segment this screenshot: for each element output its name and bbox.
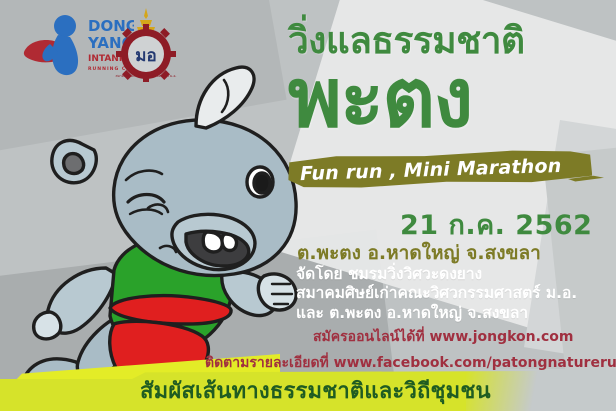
organizer-line-2: สมาคมศิษย์เก่าคณะวิศวกรรมศาสตร์ ม.อ.	[296, 284, 577, 303]
rhino-eye-pupil	[254, 173, 270, 193]
facebook-link-line[interactable]: ติดตามรายละเอียดที่ www.facebook.com/pat…	[205, 352, 616, 374]
rhino-left-fist	[34, 312, 61, 339]
rhino-ear-inner	[64, 154, 84, 174]
registration-link-line[interactable]: สมัครออนไลน์ได้ที่ www.jongkon.com	[313, 326, 573, 348]
organizer-line-1: จัดโดย ชมรมวิ่งวิศวะดงยาง	[296, 265, 577, 284]
event-location: ต.พะตง อ.หาดใหญ่ จ.สงขลา	[297, 238, 541, 268]
logo-head-circle	[54, 15, 76, 37]
rhino-tooth-left	[203, 232, 222, 252]
rhino-tooth-right	[222, 234, 237, 251]
organizer-line-3: และ ต.พะตง อ.หาดใหญ่ จ.สงขลา	[296, 304, 577, 323]
footer-slogan: สัมผัสเส้นทางธรรมชาติและวิถีชุมชน	[140, 373, 491, 408]
organizers-block: จัดโดย ชมรมวิ่งวิศวะดงยาง สมาคมศิษย์เก่า…	[296, 265, 577, 323]
headline-line-2: พะตง	[288, 58, 471, 140]
rhino-horn	[196, 67, 254, 128]
event-poster: DONG YANG INTANIA RUNNING CLUB	[0, 0, 616, 411]
